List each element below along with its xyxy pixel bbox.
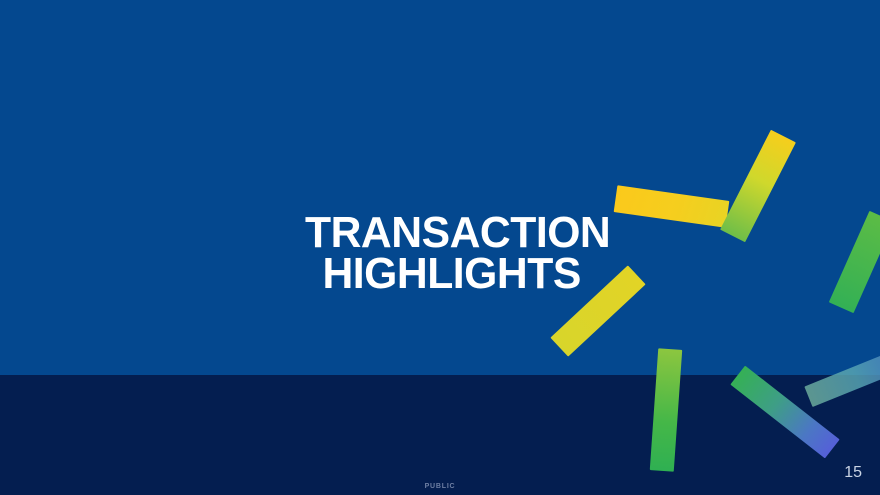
presentation-slide: TRANSACTION HIGHLIGHTS PUBLIC 15	[0, 0, 880, 495]
title-line-two: HIGHLIGHTS	[305, 253, 712, 294]
page-number: 15	[844, 464, 862, 482]
title-line-one: TRANSACTION	[305, 212, 712, 253]
slide-title: TRANSACTION HIGHLIGHTS	[305, 212, 725, 294]
confidentiality-footer: PUBLIC	[0, 483, 880, 490]
